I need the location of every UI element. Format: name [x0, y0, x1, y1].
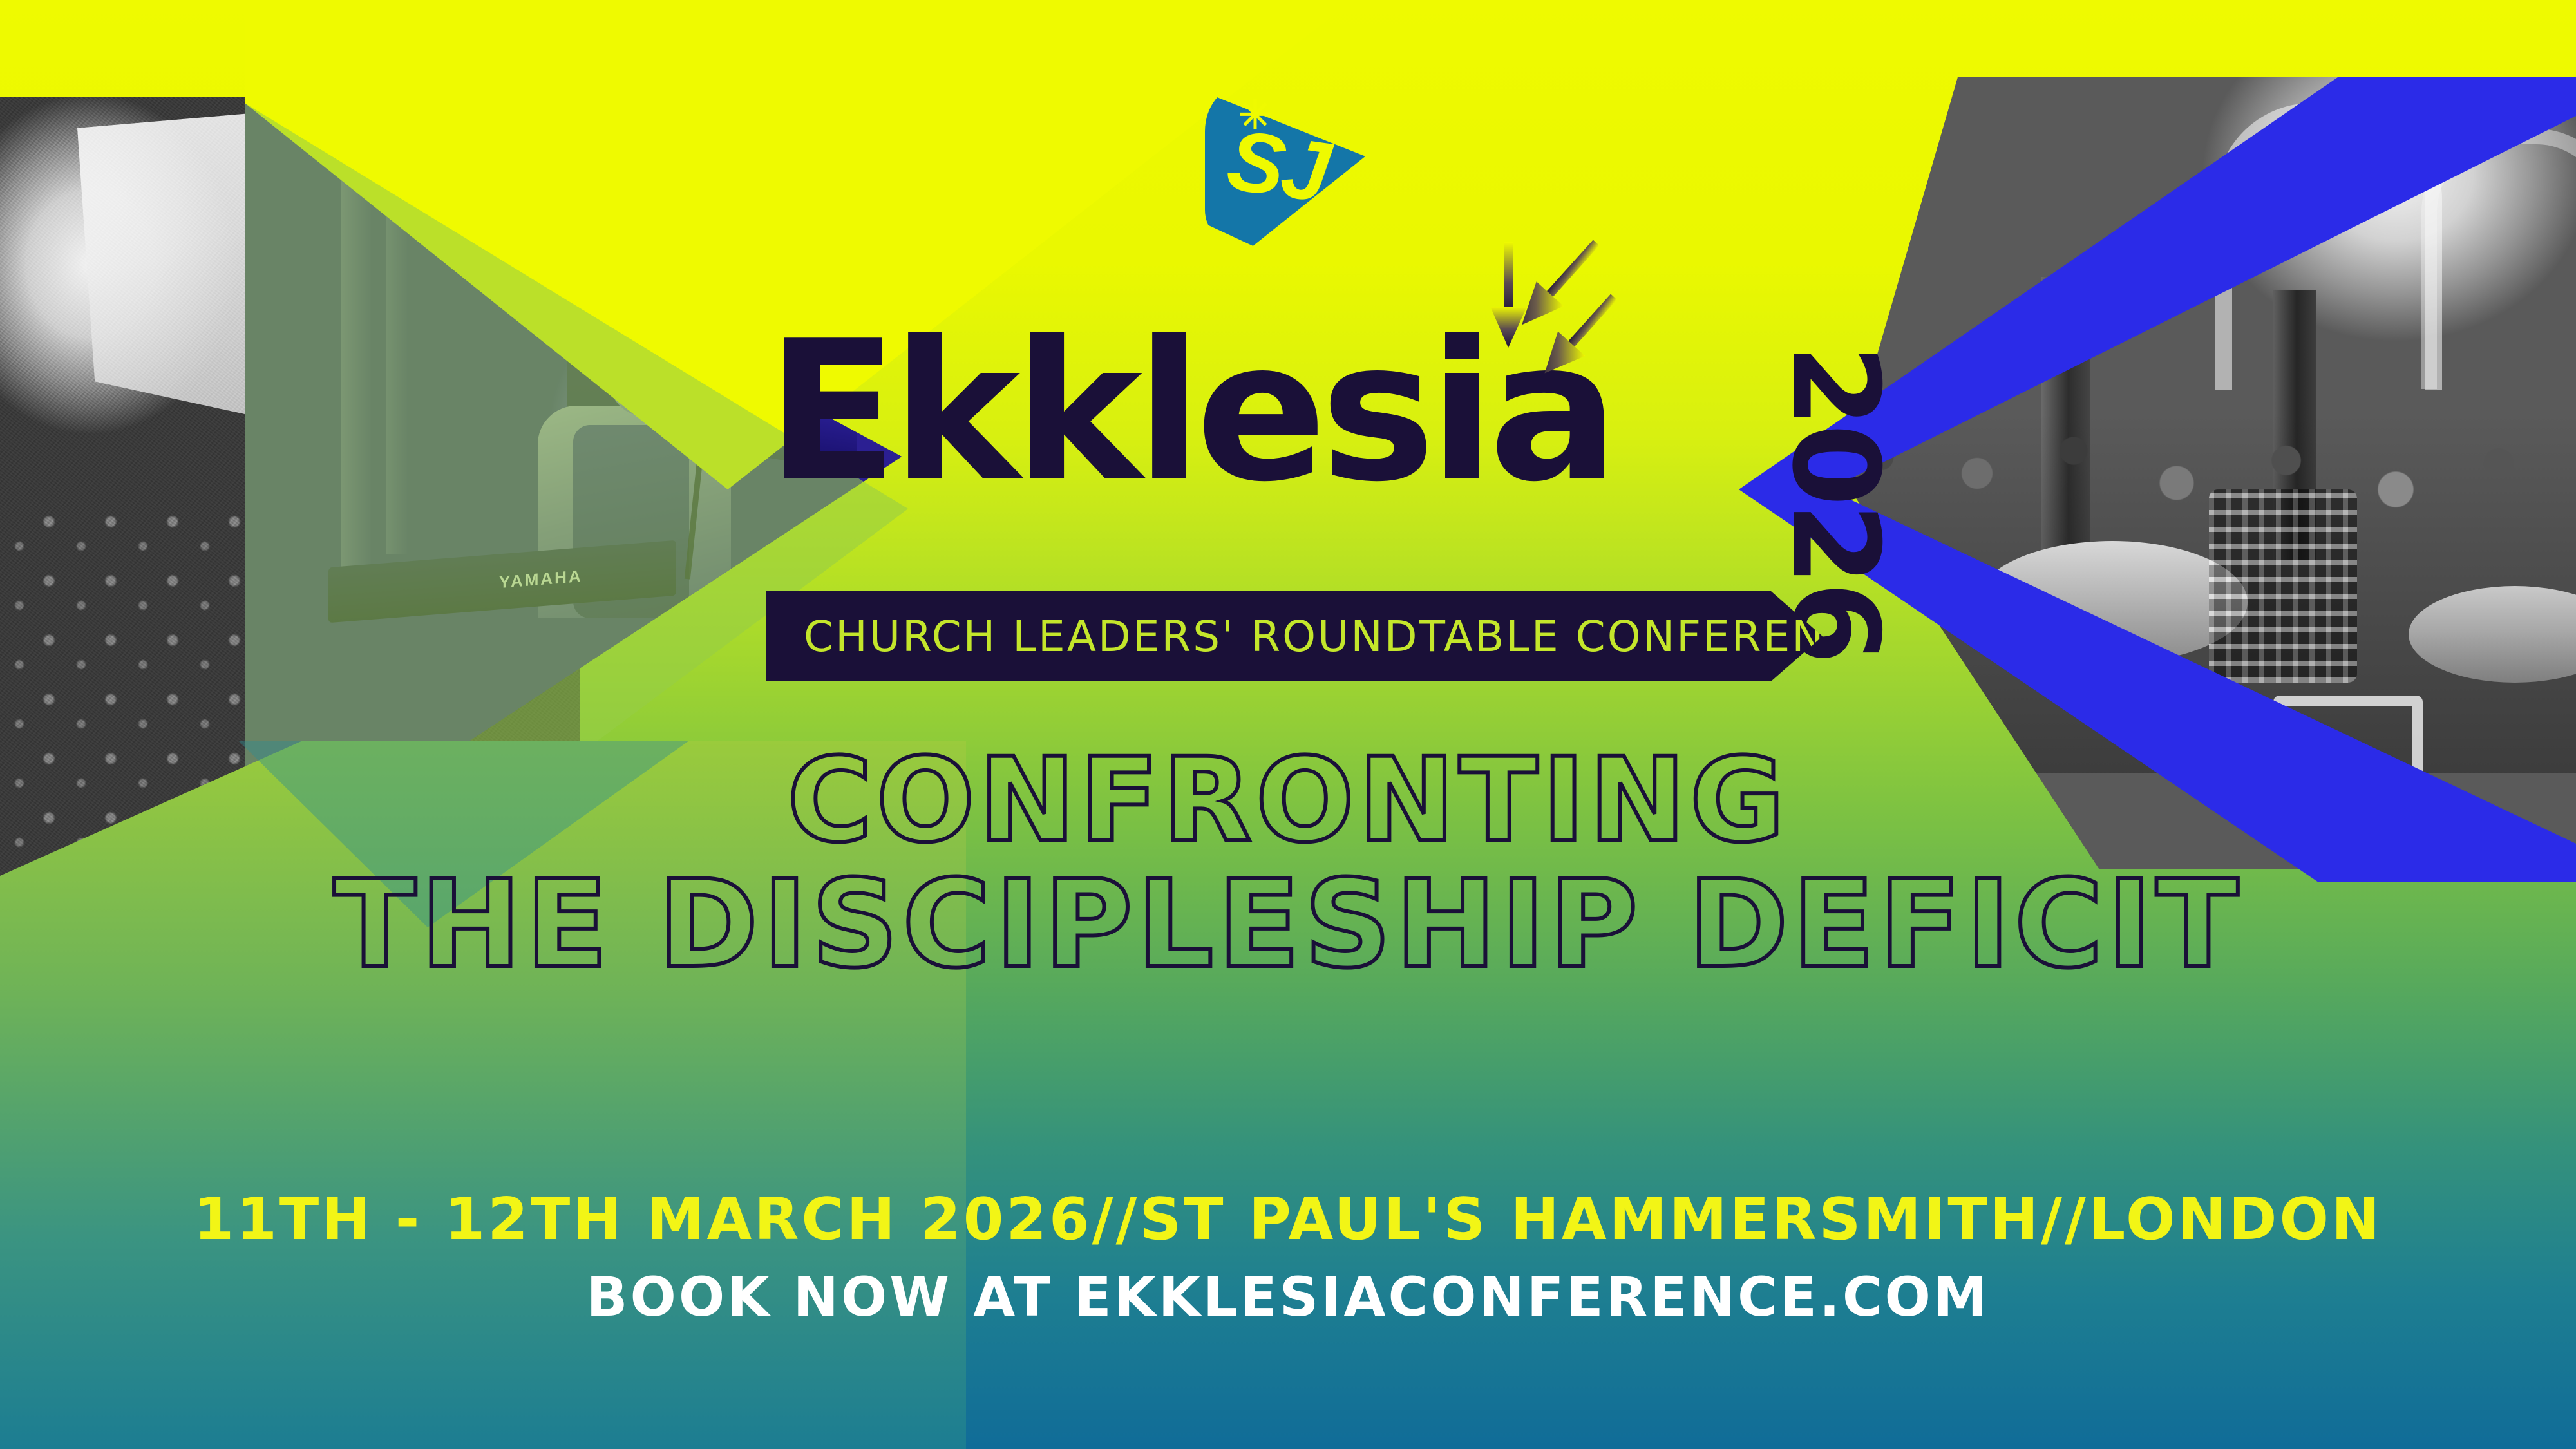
subtitle-text: CHURCH LEADERS' ROUNDTABLE CONFERENCE — [804, 612, 1886, 661]
subtitle-banner: CHURCH LEADERS' ROUNDTABLE CONFERENCE — [766, 591, 1823, 681]
logo-lettermark: SJ — [1223, 117, 1332, 215]
headline-block: CONFRONTING THE DISCIPLESHIP DEFICIT — [0, 741, 2576, 988]
sj-logo: ✳ SJ — [1195, 77, 1365, 251]
conference-poster: YAMAHA ✳ SJ Ekklesia 2026 — [0, 0, 2576, 1449]
event-details: 11TH - 12TH MARCH 2026//ST PAUL'S HAMMER… — [0, 1185, 2576, 1255]
headline-line-1: CONFRONTING — [0, 741, 2576, 862]
converging-arrows-icon — [1468, 238, 1739, 470]
footer-block: 11TH - 12TH MARCH 2026//ST PAUL'S HAMMER… — [0, 1185, 2576, 1331]
attendee-plaid-shirt — [2209, 489, 2357, 683]
headline-line-2: THE DISCIPLESHIP DEFICIT — [0, 862, 2576, 988]
booking-cta[interactable]: BOOK NOW AT EKKLESIACONFERENCE.COM — [0, 1264, 2576, 1331]
